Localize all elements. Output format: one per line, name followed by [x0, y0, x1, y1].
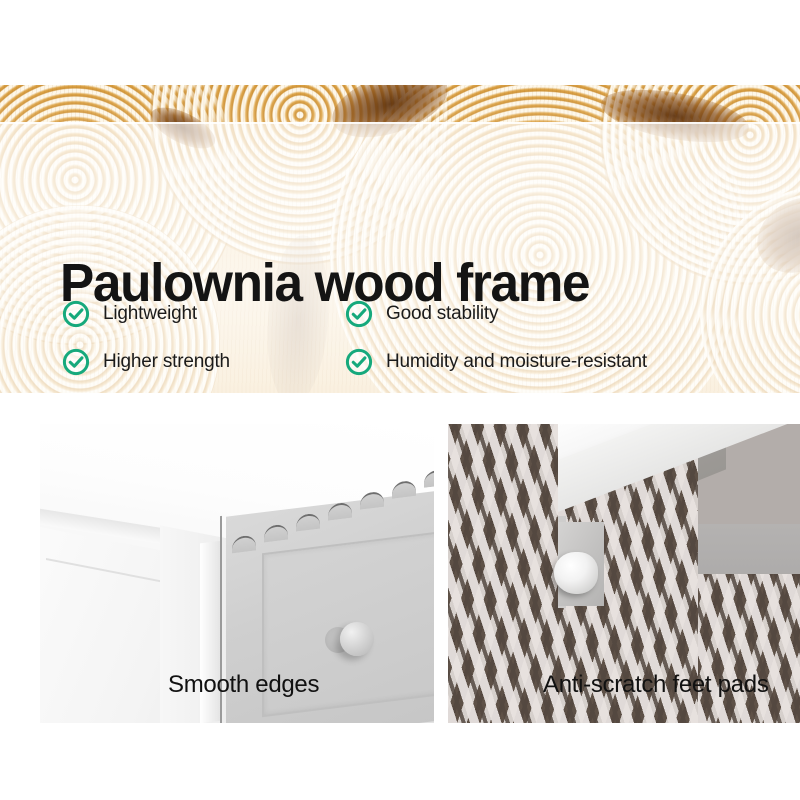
feature-item-humidity-resistant: Humidity and moisture-resistant [345, 338, 785, 386]
wicker-weave-panel-lower [698, 574, 800, 723]
feature-label: Lightweight [103, 303, 197, 325]
feature-label: Higher strength [103, 351, 230, 373]
feature-item-lightweight: Lightweight [62, 290, 342, 338]
detail-photo-row: Smooth edges Anti-scratch feet pads [0, 408, 800, 707]
feature-item-heat-cold-insulation: Excellent heat/cold insulation [345, 386, 785, 393]
check-circle-icon [62, 300, 90, 328]
drawer-knob [340, 622, 374, 656]
photo-caption-smooth-edges: Smooth edges [168, 671, 319, 699]
paulownia-wood-banner: Paulownia wood frame Lightweight [0, 85, 800, 393]
anti-scratch-foot-pad [554, 552, 598, 594]
check-circle-icon [62, 348, 90, 376]
feature-item-higher-strength: Higher strength [62, 338, 342, 386]
check-circle-icon [345, 348, 373, 376]
feature-column-right: Good stability Humidity and moisture-res… [345, 290, 785, 393]
photo-smooth-edges: Smooth edges [40, 424, 434, 723]
feature-column-left: Lightweight Higher strength [62, 290, 342, 393]
feature-label: Good stability [386, 303, 498, 325]
check-circle-icon [345, 300, 373, 328]
feature-label: Humidity and moisture-resistant [386, 351, 647, 373]
photo-caption-anti-scratch-feet-pads: Anti-scratch feet pads [543, 671, 769, 699]
feature-item-low-shrinkage: Low shrinkage [62, 386, 342, 393]
photo-anti-scratch-feet-pads: Anti-scratch feet pads [448, 424, 800, 723]
feature-item-good-stability: Good stability [345, 290, 785, 338]
